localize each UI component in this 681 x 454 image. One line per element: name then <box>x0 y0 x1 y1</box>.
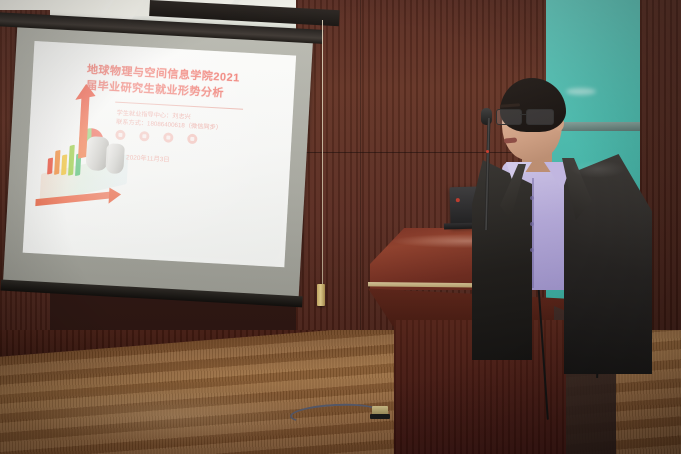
jacket-shoulder-highlight <box>570 160 626 178</box>
shirt-placket <box>532 178 534 288</box>
jacket-left-panel <box>472 160 532 360</box>
shirt-button-1 <box>530 196 534 200</box>
microphone-indicator-icon <box>486 150 489 153</box>
laptop-logo-icon <box>456 198 460 202</box>
presenter <box>466 78 656 398</box>
screen-pull-cord-weight <box>317 284 325 306</box>
eyeglass-lens-left <box>496 109 522 125</box>
graphic-cylinder-2 <box>105 143 125 174</box>
chart-circle-icon-1 <box>115 130 126 141</box>
chart-circle-icon-3 <box>163 132 174 143</box>
graphic-bar-1 <box>47 157 53 174</box>
shirt-button-3 <box>530 248 534 252</box>
shirt-button-2 <box>530 222 534 226</box>
presentation-slide: 地球物理与空间信息学院2021 届毕业研究生就业形势分析 学生就业指导中心：刘志… <box>23 41 296 267</box>
screen-pull-cord <box>322 20 323 286</box>
floor-reflection <box>20 386 320 446</box>
slide-3d-chart-graphic <box>31 89 143 213</box>
wall-panel-vertical-seam <box>360 0 361 330</box>
eyeglass-bridge <box>520 114 527 115</box>
eyeglass-lens-right <box>526 109 554 125</box>
chart-circle-icon-2 <box>139 131 150 142</box>
projection-screen: 地球物理与空间信息学院2021 届毕业研究生就业形势分析 学生就业指导中心：刘志… <box>1 14 317 330</box>
eyeglasses-icon <box>496 109 558 124</box>
chart-circle-icon-4 <box>187 134 198 145</box>
lecture-hall-photo: 地球物理与空间信息学院2021 届毕业研究生就业形势分析 学生就业指导中心：刘志… <box>0 0 681 454</box>
